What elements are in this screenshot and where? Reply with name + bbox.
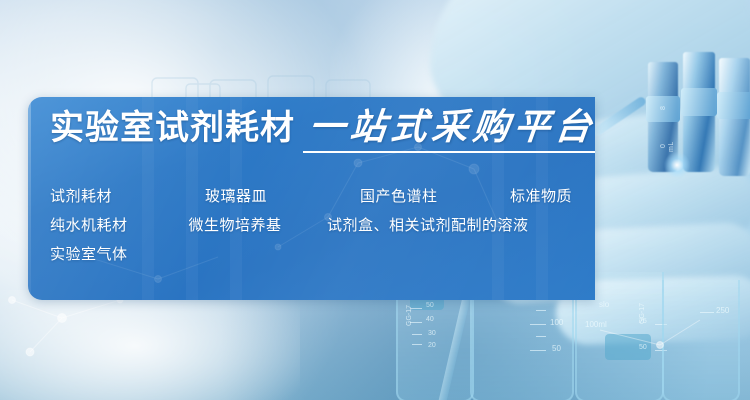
- beaker-mark-gg17b: GG-17: [639, 303, 646, 324]
- category-reference-materials[interactable]: 标准物质: [510, 185, 595, 206]
- beaker-mark-50: 50: [552, 344, 561, 353]
- headline-card: 实验室试剂耗材 一站式采购平台 试剂耗材 玻璃器皿 国产色谱柱 标准物质 纯水机…: [28, 97, 595, 300]
- beaker-mark-20: 20: [428, 342, 436, 349]
- beaker-left: 50 40 30 20 GG-17 0ml: [396, 292, 474, 400]
- promo-banner: mL 8 0 200 150 100 50 GG-17 slo 100ml 75: [0, 0, 750, 400]
- beaker-mark-100ml: 100ml: [585, 320, 607, 329]
- beaker-mark-250: 250: [716, 306, 729, 315]
- category-domestic-chromatography-columns[interactable]: 国产色谱柱: [360, 185, 510, 206]
- category-microbial-culture-media[interactable]: 微生物培养基: [188, 214, 326, 235]
- category-list: 试剂耗材 玻璃器皿 国产色谱柱 标准物质 纯水机耗材 微生物培养基 试剂盒、相关…: [50, 181, 595, 268]
- page-subtitle-calligraphy: 一站式采购平台: [307, 109, 595, 145]
- category-reagent-consumables[interactable]: 试剂耗材: [50, 185, 205, 206]
- category-laboratory-gases[interactable]: 实验室气体: [50, 243, 205, 264]
- test-tube-label-8: 8: [660, 106, 667, 110]
- beaker-mark-40: 40: [426, 316, 434, 323]
- title-underline: [303, 151, 595, 153]
- beaker-right: 250: [662, 280, 740, 400]
- category-water-purifier-consumables[interactable]: 纯水机耗材: [50, 214, 188, 235]
- beaker-mark-gg17c: GG-17: [406, 305, 413, 326]
- category-kits-and-prepared-solutions[interactable]: 试剂盒、相关试剂配制的溶液: [327, 214, 595, 235]
- headline-calligraphy-wrap: 一站式采购平台: [309, 109, 595, 153]
- page-title: 实验室试剂耗材: [50, 111, 295, 145]
- category-glassware[interactable]: 玻璃器皿: [205, 185, 360, 206]
- category-row-1: 试剂耗材 玻璃器皿 国产色谱柱 标准物质: [50, 181, 595, 210]
- category-row-3: 实验室气体: [50, 239, 595, 268]
- beaker-mark-100: 100: [550, 318, 563, 327]
- category-row-2: 纯水机耗材 微生物培养基 试剂盒、相关试剂配制的溶液: [50, 210, 595, 239]
- beaker-mark-50c: 50: [426, 302, 434, 309]
- test-tube-cap-3: [717, 92, 750, 119]
- beaker-mark-30: 30: [428, 330, 436, 337]
- test-tube-cap-2: [681, 88, 717, 116]
- test-tube-label-ml: mL: [668, 141, 675, 152]
- beaker-mark-50b: 50: [639, 344, 647, 351]
- light-glint-primary: [664, 152, 690, 178]
- beaker-brand-slo: slo: [599, 300, 609, 309]
- test-tube-label-0: 0: [660, 144, 667, 148]
- headline-row: 实验室试剂耗材 一站式采购平台: [50, 109, 595, 153]
